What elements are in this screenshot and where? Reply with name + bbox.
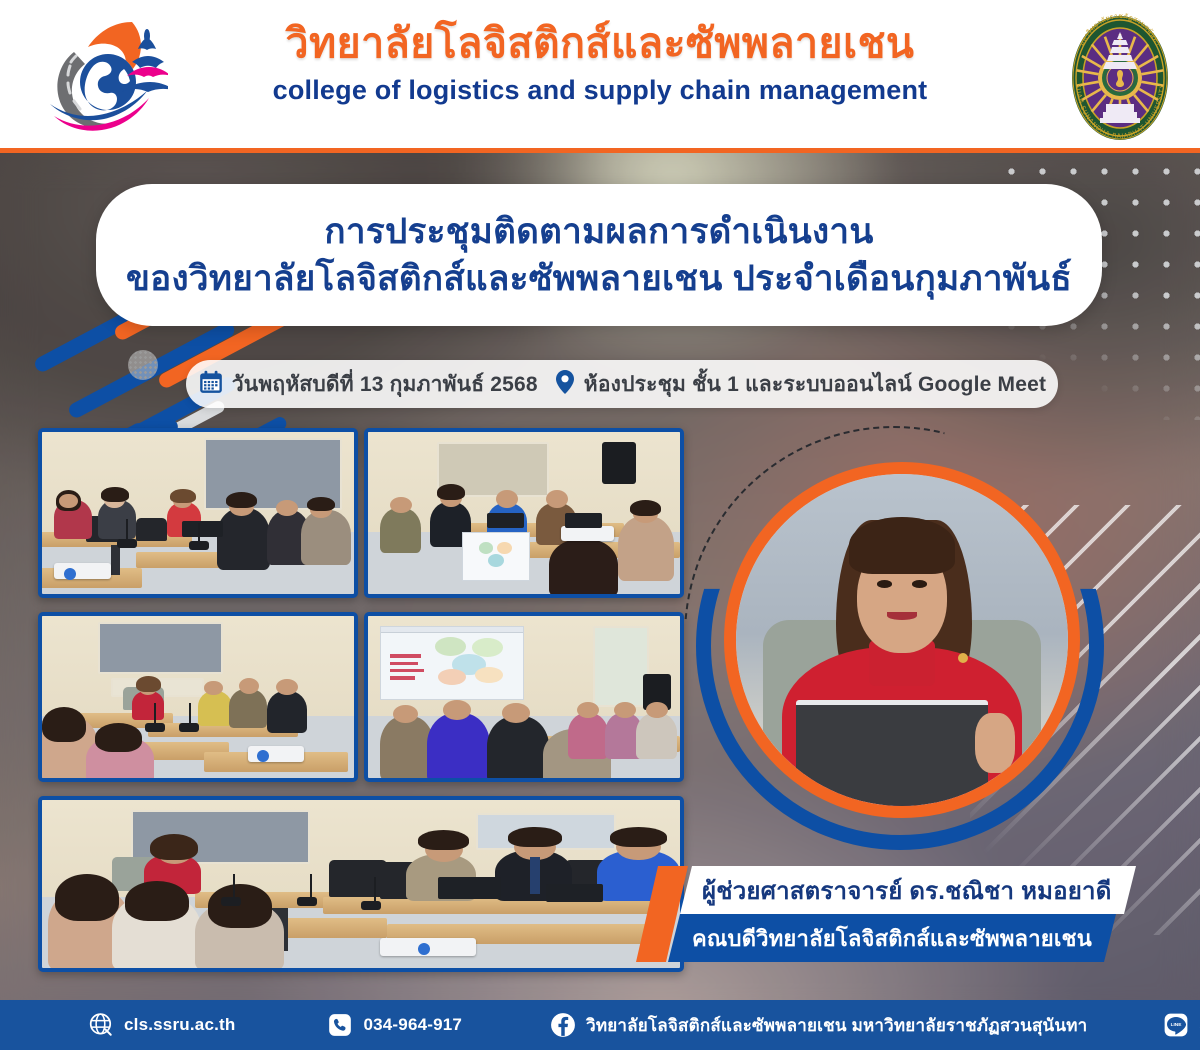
event-location-group: ห้องประชุม ชั้น 1 และระบบออนไลน์ Google … <box>554 368 1046 401</box>
banner-role-row: คณบดีวิทยาลัยโลจิสติกส์และซัพพลายเชน <box>668 914 1116 962</box>
org-title-thai: วิทยาลัยโลจิสติกส์และซัพพลายเชน <box>200 18 1000 69</box>
calendar-icon <box>198 369 224 400</box>
meeting-photo-1 <box>38 428 358 598</box>
header-titles: วิทยาลัยโลจิสติกส์และซัพพลายเชน college … <box>200 18 1000 106</box>
cls-logo <box>36 16 168 138</box>
globe-icon <box>88 1012 114 1038</box>
event-date-group: วันพฤหัสบดีที่ 13 กุมภาพันธ์ 2568 <box>198 368 538 401</box>
meeting-photo-3 <box>38 612 358 782</box>
banner-name-row: ผู้ช่วยศาสตราจารย์ ดร.ชณิชา หมอยาดี <box>680 866 1136 914</box>
org-title-english: college of logistics and supply chain ma… <box>200 75 1000 106</box>
speaker-name-banner: ผู้ช่วยศาสตราจารย์ ดร.ชณิชา หมอยาดี คณบด… <box>636 866 1136 962</box>
footer-facebook-label: วิทยาลัยโลจิสติกส์และซัพพลายเชน มหาวิทยา… <box>586 1012 1087 1039</box>
svg-text:LINE: LINE <box>1171 1022 1182 1028</box>
event-location-text: ห้องประชุม ชั้น 1 และระบบออนไลน์ Google … <box>584 368 1046 401</box>
meeting-photo-4 <box>364 612 684 782</box>
title-line-1: การประชุมติดตามผลการดำเนินงาน <box>324 211 873 252</box>
page-header: วิทยาลัยโลจิสติกส์และซัพพลายเชน college … <box>0 0 1200 150</box>
poster-root: การประชุมติดตามผลการดำเนินงาน ของวิทยาลั… <box>0 0 1200 1050</box>
footer-website[interactable]: cls.ssru.ac.th <box>88 1012 235 1038</box>
speaker-role: คณบดีวิทยาลัยโลจิสติกส์และซัพพลายเชน <box>692 921 1092 956</box>
footer-website-label: cls.ssru.ac.th <box>124 1015 235 1035</box>
map-pin-icon <box>554 369 576 400</box>
line-icon: LINE <box>1163 1012 1189 1038</box>
event-date-text: วันพฤหัสบดีที่ 13 กุมภาพันธ์ 2568 <box>232 368 538 401</box>
event-details-bar: วันพฤหัสบดีที่ 13 กุมภาพันธ์ 2568 ห้องปร… <box>186 360 1058 408</box>
header-divider <box>0 148 1200 153</box>
meeting-photo-2 <box>364 428 684 598</box>
meeting-photo-5 <box>38 796 684 972</box>
footer-phone[interactable]: 034-964-917 <box>327 1012 462 1038</box>
footer-facebook[interactable]: วิทยาลัยโลจิสติกส์และซัพพลายเชน มหาวิทยา… <box>550 1012 1087 1039</box>
page-footer: cls.ssru.ac.th 034-964-917 วิทยาลัยโลจิส… <box>0 1000 1200 1050</box>
phone-icon <box>327 1012 353 1038</box>
dean-portrait <box>700 440 1100 840</box>
speaker-name: ผู้ช่วยศาสตราจารย์ ดร.ชณิชา หมอยาดี <box>702 871 1111 910</box>
footer-phone-label: 034-964-917 <box>363 1015 462 1035</box>
footer-line[interactable]: LINE 595tjwpp <box>1163 1012 1200 1038</box>
title-line-2: ของวิทยาลัยโลจิสติกส์และซัพพลายเชน ประจำ… <box>126 258 1072 299</box>
title-card: การประชุมติดตามผลการดำเนินงาน ของวิทยาลั… <box>96 184 1102 326</box>
ssru-university-seal: มหาวิทยาลัยราชภัฏสวนสุนันทา SUAN SUNANDH… <box>1054 12 1186 144</box>
facebook-icon <box>550 1012 576 1038</box>
portrait-orange-ring <box>724 462 1080 818</box>
